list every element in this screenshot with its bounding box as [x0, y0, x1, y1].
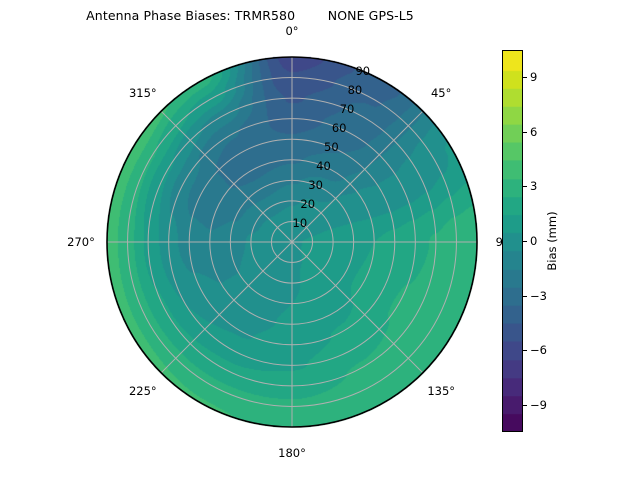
radial-tick-label[interactable]: 70: [340, 102, 355, 116]
radial-tick-label[interactable]: 40: [316, 159, 331, 173]
radial-tick-label[interactable]: 10: [293, 216, 308, 230]
colorbar-tick-label: 6: [530, 125, 537, 139]
colorbar-gradient: [502, 50, 523, 432]
colorbar-tick-mark: [523, 350, 527, 351]
figure-canvas: Antenna Phase Biases: TRMR580 NONE GPS-L…: [0, 0, 640, 480]
radial-tick-label[interactable]: 90: [355, 64, 370, 78]
azimuth-tick-label[interactable]: 135°: [427, 384, 455, 398]
radial-tick-label[interactable]: 20: [300, 197, 315, 211]
colorbar-tick-mark: [523, 296, 527, 297]
azimuth-tick-label[interactable]: 0°: [285, 24, 298, 38]
azimuth-tick-label[interactable]: 225°: [129, 384, 157, 398]
colorbar-tick-label: −3: [530, 289, 547, 303]
colorbar-tick-mark: [523, 132, 527, 133]
radial-tick-label[interactable]: 50: [324, 140, 339, 154]
radial-tick-label[interactable]: 80: [348, 83, 363, 97]
azimuth-tick-label[interactable]: 315°: [129, 86, 157, 100]
colorbar-tick-label: 9: [530, 70, 537, 84]
page-title: Antenna Phase Biases: TRMR580 NONE GPS-L…: [0, 8, 500, 23]
colorbar-tick-label: 3: [530, 179, 537, 193]
colorbar-tick-mark: [523, 77, 527, 78]
polar-plot[interactable]: 0°45°90135°180°225°270°315°1020304050607…: [106, 50, 478, 434]
colorbar-tick-label: −6: [530, 343, 547, 357]
radial-tick-label[interactable]: 60: [332, 121, 347, 135]
colorbar-tick-label: −9: [530, 398, 547, 412]
colorbar-tick-mark: [523, 405, 527, 406]
radial-tick-label[interactable]: 30: [308, 178, 323, 192]
azimuth-tick-label[interactable]: 270°: [67, 235, 95, 249]
colorbar-title: Bias (mm): [545, 211, 559, 270]
colorbar-tick-mark: [523, 186, 527, 187]
azimuth-tick-label[interactable]: 45°: [431, 86, 451, 100]
colorbar-tick-mark: [523, 241, 527, 242]
polar-axes: [106, 50, 478, 434]
colorbar-tick-label: 0: [530, 234, 537, 248]
azimuth-tick-label[interactable]: 180°: [278, 446, 306, 460]
colorbar[interactable]: [502, 50, 523, 432]
